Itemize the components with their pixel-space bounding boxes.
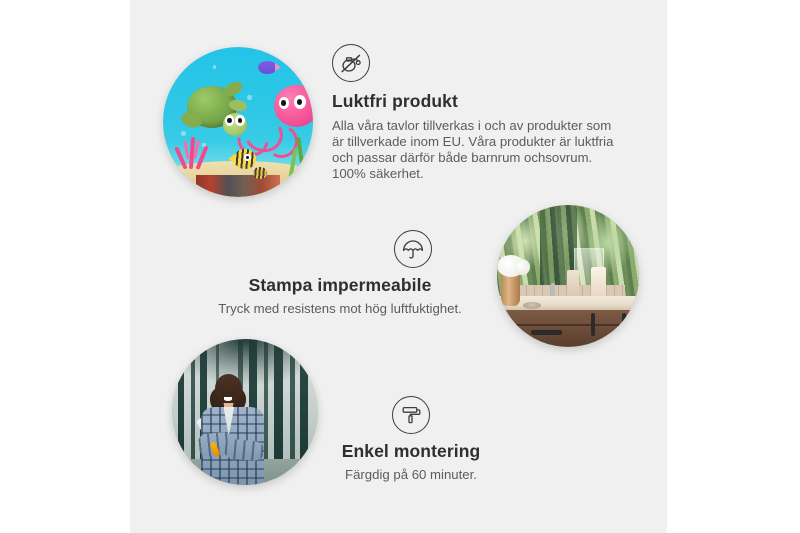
small-fish: [253, 167, 267, 179]
octopus-eye-right: [294, 95, 306, 109]
bathroom-scene: [497, 205, 639, 347]
eye-left: [222, 391, 225, 394]
yellow-fish-eye: [244, 154, 251, 162]
cabinet-handle-left: [591, 313, 595, 336]
feature-title: Stampa impermeabile: [216, 275, 464, 297]
feature-odorless: Luktfri produkt Alla våra tavlor tillver…: [332, 44, 622, 183]
octopus-eye-left: [279, 97, 290, 109]
feature-title: Enkel montering: [300, 441, 522, 463]
feature-icon-wrap: [216, 230, 464, 268]
smile: [224, 397, 233, 401]
feature-title: Luktfri produkt: [332, 91, 622, 113]
feature-body: Färgdig på 60 minuter.: [300, 467, 522, 483]
drawer-handle: [531, 330, 562, 335]
product-feature-panel: Luktfri produkt Alla våra tavlor tillver…: [0, 0, 800, 533]
bubble-2: [202, 143, 206, 147]
feature-waterproof: Stampa impermeabile Tryck med resistens …: [216, 230, 464, 317]
product-image-bathroom[interactable]: [497, 205, 639, 347]
woman-figure: [192, 374, 274, 485]
soap-dish: [523, 302, 541, 309]
feature-mounting: Enkel montering Färgdig på 60 minuter.: [300, 396, 522, 483]
product-image-forest[interactable]: [172, 339, 318, 485]
bubble-4: [213, 65, 217, 69]
turtle-eye-right: [235, 115, 245, 126]
coral: [172, 134, 217, 179]
flower-small: [514, 259, 530, 275]
feature-body: Alla våra tavlor tillverkas i och av pro…: [332, 118, 622, 183]
umbrella-icon: [394, 230, 432, 268]
forest-scene: [172, 339, 318, 485]
turtle-eye-left: [225, 115, 235, 126]
purple-fish: [258, 61, 278, 75]
no-odor-icon: [332, 44, 370, 82]
paint-roller-icon: [392, 396, 430, 434]
vanity-cabinet: [506, 310, 639, 347]
product-image-underwater[interactable]: [163, 47, 313, 197]
cabinet-seam: [506, 324, 639, 326]
underwater-scene: [163, 47, 313, 197]
feature-body: Tryck med resistens mot hög luftfuktighe…: [216, 301, 464, 317]
bubble-3: [247, 95, 252, 100]
cabinet-handle-right: [622, 313, 626, 336]
feature-icon-wrap: [300, 396, 522, 434]
